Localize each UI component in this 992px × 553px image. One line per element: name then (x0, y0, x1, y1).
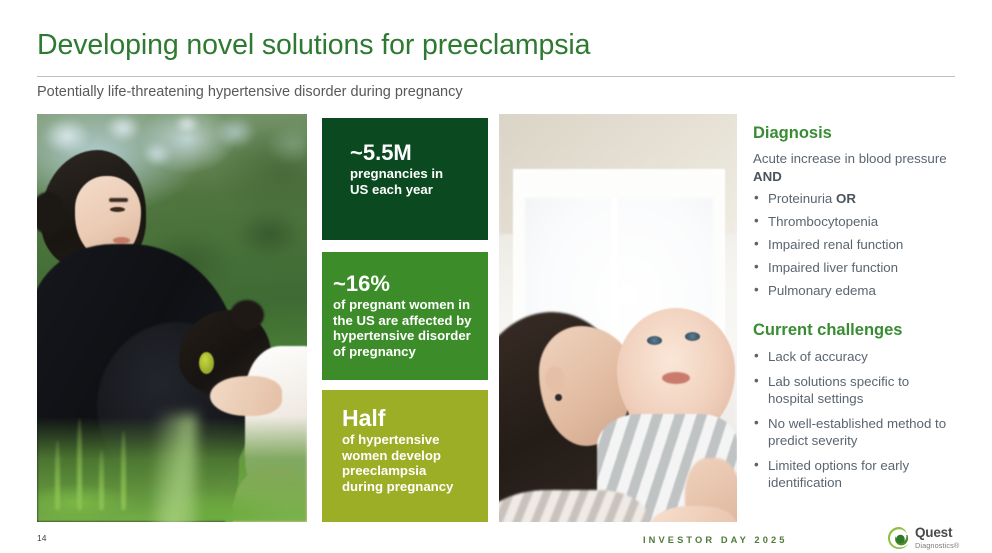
mother-earring (555, 394, 562, 401)
quest-diagnostics-logo: Quest Diagnostics® (887, 524, 987, 552)
list-item: Impaired renal function (753, 236, 958, 254)
stat-card-content: Half of hypertensive women develop preec… (342, 406, 453, 495)
stat-description-line: the US are affected by (333, 313, 472, 329)
diagnosis-heading: Diagnosis (753, 124, 832, 143)
quest-swirl-logo-icon (887, 526, 911, 550)
stat-card-hypertensive-disorder-rate: ~16% of pregnant women in the US are aff… (322, 252, 488, 380)
logo-brand-name: Quest (915, 526, 959, 540)
stat-description: of hypertensive women develop preeclamps… (342, 432, 453, 494)
stat-description-line: US each year (350, 182, 443, 198)
grass-blade (55, 440, 60, 510)
stat-description-line: of pregnancy (333, 344, 472, 360)
list-item: Limited options for early identification (753, 457, 958, 492)
pregnant-woman-with-child-outdoors-photo (37, 114, 307, 522)
bullet-text: Pulmonary edema (768, 283, 876, 298)
stat-value: ~5.5M (350, 141, 443, 165)
stat-card-content: ~16% of pregnant women in the US are aff… (333, 272, 472, 360)
stat-description-line: hypertensive disorder (333, 328, 472, 344)
page-title: Developing novel solutions for preeclamp… (37, 29, 590, 62)
bullet-text: Lack of accuracy (768, 349, 868, 364)
mother-striped-shirt (499, 490, 649, 522)
page-subtitle: Potentially life-threatening hypertensiv… (37, 84, 463, 100)
mother-ear (545, 366, 565, 392)
woman-eye (110, 207, 125, 212)
stat-description-line: of hypertensive (342, 432, 453, 448)
baby-eye-left (647, 336, 662, 345)
woman-lips (113, 237, 130, 244)
list-item: Impaired liver function (753, 259, 958, 277)
stat-description: pregnancies in US each year (350, 166, 443, 197)
mother-kissing-baby-photo (499, 114, 737, 522)
bullet-text: Impaired liver function (768, 260, 898, 275)
list-item: Proteinuria OR (753, 190, 958, 208)
baby-eye-right (685, 332, 700, 341)
bullet-bold: OR (836, 191, 856, 206)
diagnosis-lead-text: Acute increase in blood pressure AND (753, 150, 953, 187)
stat-description-line: pregnancies in (350, 166, 443, 182)
quest-wordmark: Quest Diagnostics® (915, 526, 959, 549)
child-hair-bun (230, 300, 264, 330)
current-challenges-bullet-list: Lack of accuracy Lab solutions specific … (753, 348, 958, 499)
list-item: Lack of accuracy (753, 348, 958, 366)
bullet-text: Lab solutions specific to hospital setti… (768, 374, 909, 407)
bullet-text: Thrombocytopenia (768, 214, 878, 229)
stat-description-line: during pregnancy (342, 479, 453, 495)
stat-value: Half (342, 406, 453, 431)
stat-card-preeclampsia-half: Half of hypertensive women develop preec… (322, 390, 488, 522)
bullet-text: Impaired renal function (768, 237, 903, 252)
list-item: Pulmonary edema (753, 282, 958, 300)
child-arm (210, 376, 282, 416)
list-item: No well-established method to predict se… (753, 415, 958, 450)
list-item: Thrombocytopenia (753, 213, 958, 231)
bullet-text: Proteinuria (768, 191, 836, 206)
grass-blade (99, 450, 104, 510)
stat-value: ~16% (333, 272, 472, 296)
title-divider (37, 76, 955, 77)
footer-event-label: INVESTOR DAY 2025 (643, 535, 788, 545)
grass-blade (121, 430, 126, 510)
stat-description-line: of pregnant women in (333, 297, 472, 313)
diagnosis-lead-bold: AND (753, 169, 782, 184)
page-number: 14 (37, 533, 46, 543)
foreground-blur-streak (155, 414, 197, 522)
diagnosis-lead-prefix: Acute increase in blood pressure (753, 151, 947, 166)
current-challenges-heading: Current challenges (753, 321, 902, 340)
woman-eyebrow (109, 198, 128, 202)
stat-description: of pregnant women in the US are affected… (333, 297, 472, 359)
stat-description-line: women develop (342, 448, 453, 464)
bullet-text: No well-established method to predict se… (768, 416, 946, 449)
stat-card-pregnancies: ~5.5M pregnancies in US each year (322, 118, 488, 240)
logo-brand-sub: Diagnostics® (915, 542, 959, 549)
baby-mouth (662, 372, 690, 384)
stat-description-line: preeclampsia (342, 463, 453, 479)
grass-blade (77, 418, 82, 510)
slide-canvas: Developing novel solutions for preeclamp… (0, 0, 992, 553)
bullet-text: Limited options for early identification (768, 458, 909, 491)
child-hair-clip (199, 352, 214, 374)
stat-card-content: ~5.5M pregnancies in US each year (350, 141, 443, 197)
list-item: Lab solutions specific to hospital setti… (753, 373, 958, 408)
diagnosis-bullet-list: Proteinuria OR Thrombocytopenia Impaired… (753, 190, 958, 305)
